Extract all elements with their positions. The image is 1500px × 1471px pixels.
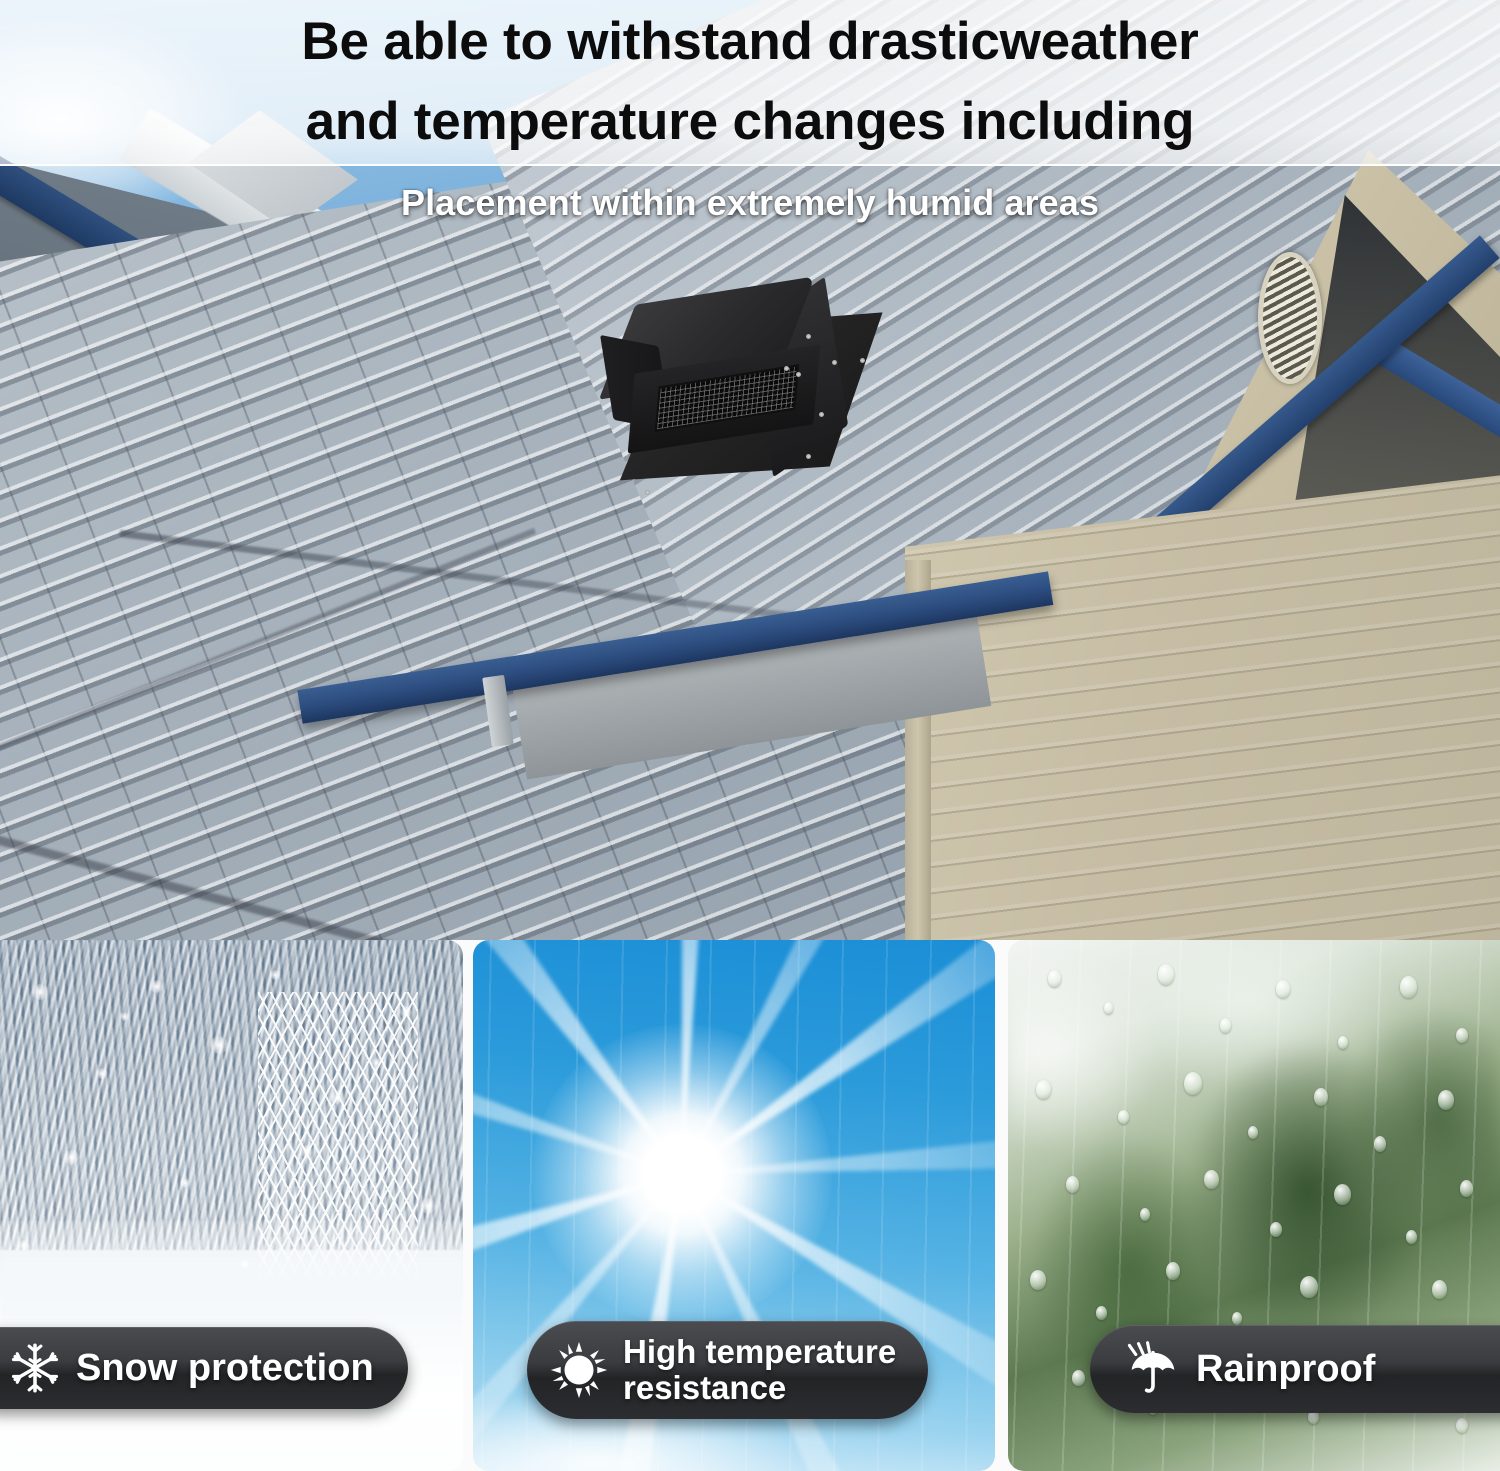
feature-panels: Snow protection [0, 940, 1500, 1471]
snowflake-icon [8, 1341, 62, 1395]
feature-panel-snow: Snow protection [0, 940, 463, 1471]
vent-screw-icon [806, 334, 811, 339]
badge-snow-protection: Snow protection [0, 1327, 408, 1409]
badge-label-sun: High temperature resistance [623, 1334, 896, 1406]
sun-icon [549, 1340, 609, 1400]
subheadline: Placement within extremely humid areas [0, 182, 1500, 224]
badge-rainproof: Rainproof [1090, 1325, 1500, 1413]
product-marketing-image: Be able to withstand drasticweather and … [0, 0, 1500, 1471]
vent-screw-icon [832, 360, 837, 365]
feature-panel-sun: High temperature resistance [473, 940, 995, 1471]
vent-screw-icon [806, 454, 811, 459]
vent-screw-icon [796, 372, 801, 377]
vent-screw-icon [784, 366, 789, 371]
headline-line-2: and temperature changes including [0, 82, 1500, 162]
gable-louver-vent-icon [1258, 252, 1322, 384]
headline-line-1: Be able to withstand drasticweather [0, 0, 1500, 82]
badge-high-temperature-resistance: High temperature resistance [527, 1321, 928, 1419]
feature-panel-rain: Rainproof [1008, 940, 1500, 1471]
hero-photo: Be able to withstand drasticweather and … [0, 0, 1500, 940]
badge-label-rain: Rainproof [1196, 1350, 1375, 1388]
lap-siding-wall [905, 470, 1500, 940]
umbrella-icon [1124, 1340, 1182, 1398]
vent-screw-icon [645, 490, 650, 495]
vent-screw-icon [819, 412, 824, 417]
vent-screw-icon [860, 358, 865, 363]
roof-vent-cap-product [598, 288, 898, 503]
headline: Be able to withstand drasticweather and … [0, 0, 1500, 162]
badge-label-snow: Snow protection [76, 1349, 374, 1387]
